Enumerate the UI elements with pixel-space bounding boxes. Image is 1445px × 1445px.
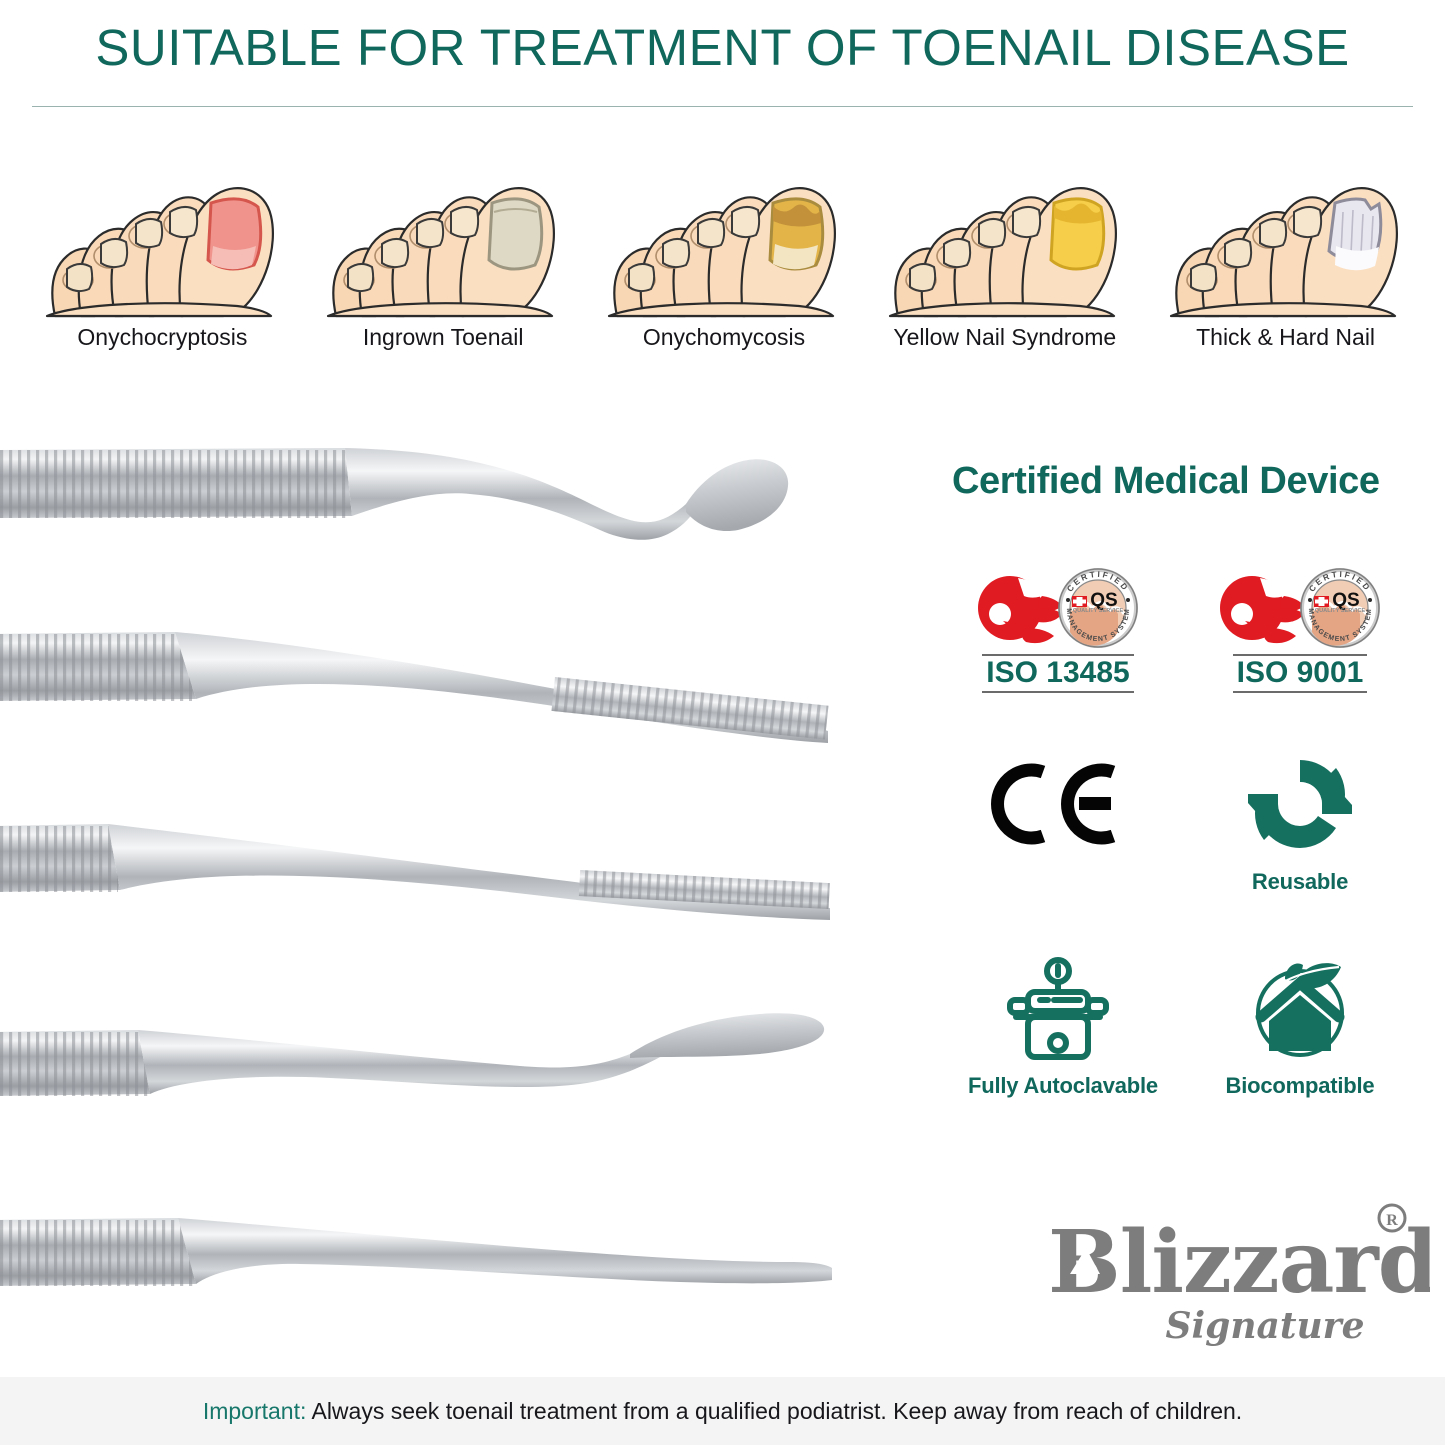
symbol-row-ce-reusable: Reusable xyxy=(968,745,1430,895)
foot-thick-hard-nail-icon xyxy=(1145,122,1426,318)
foot-onychomycosis-icon xyxy=(584,122,865,318)
symbol-biocompatible: Biocompatible xyxy=(1210,949,1390,1099)
title-divider xyxy=(32,106,1413,107)
svg-text:QUALITY SERVICE: QUALITY SERVICE xyxy=(1073,608,1124,614)
condition-item-onychocryptosis: Onychocryptosis xyxy=(22,122,303,372)
symbol-label: Fully Autoclavable xyxy=(968,1073,1148,1099)
footer-keyword: Important: xyxy=(203,1398,307,1424)
condition-item-thick-hard-nail: Thick & Hard Nail xyxy=(1145,122,1426,372)
instrument-nail-elevator-curved-spoon xyxy=(0,448,788,540)
conditions-strip: Onychocryptosis xyxy=(22,122,1426,372)
brand-name-text: Blizzard xyxy=(1048,1212,1430,1313)
house-leaf-icon xyxy=(1210,949,1390,1067)
instrument-nail-file-rasp-serrated xyxy=(0,632,828,743)
symbol-reusable: Reusable xyxy=(1210,745,1390,895)
condition-label: Yellow Nail Syndrome xyxy=(864,324,1145,351)
brand-trademark-text: R xyxy=(1386,1212,1398,1229)
iso-badge-9001: QS QUALITY SERVICE CERTIFIED MANAGEMENT … xyxy=(1210,565,1390,693)
instrument-gallery xyxy=(0,412,900,1332)
foot-onychocryptosis-icon xyxy=(22,122,303,318)
ce-mark-icon xyxy=(968,745,1148,863)
footer-bar: Important: Always seek toenail treatment… xyxy=(0,1377,1445,1445)
symbol-label: Reusable xyxy=(1210,869,1390,895)
instrument-nail-spatula-flat-blade xyxy=(0,1013,824,1096)
instrument-nail-probe-slim-blade xyxy=(0,1218,832,1286)
autoclave-sterilizer-icon xyxy=(968,949,1148,1067)
iso-badge-13485: QS QUALITY SERVICE CERTIFIED MANAGEMENT … xyxy=(968,565,1148,693)
condition-item-ingrown-toenail: Ingrown Toenail xyxy=(303,122,584,372)
certification-panel: Certified Medical Device xyxy=(930,460,1430,1099)
condition-label: Ingrown Toenail xyxy=(303,324,584,351)
instrument-nail-file-tapered-serrated xyxy=(0,824,830,920)
footer-message: Always seek toenail treatment from a qua… xyxy=(306,1398,1242,1424)
recycle-arrows-icon xyxy=(1210,745,1390,863)
page-title: SUITABLE FOR TREATMENT OF TOENAIL DISEAS… xyxy=(0,18,1445,77)
qs-certified-seal-icon: QS QUALITY SERVICE CERTIFIED MANAGEMENT … xyxy=(968,565,1148,651)
iso-badge-label: ISO 13485 xyxy=(982,654,1133,693)
iso-badge-row: QS QUALITY SERVICE CERTIFIED MANAGEMENT … xyxy=(968,565,1430,693)
symbol-ce-mark xyxy=(968,745,1148,895)
foot-ingrown-toenail-icon xyxy=(303,122,584,318)
brand-tagline-text: Signature xyxy=(1165,1305,1364,1347)
product-infographic: SUITABLE FOR TREATMENT OF TOENAIL DISEAS… xyxy=(0,0,1445,1445)
qs-certified-seal-icon: QS QUALITY SERVICE CERTIFIED MANAGEMENT … xyxy=(1210,565,1390,651)
condition-label: Onychomycosis xyxy=(584,324,865,351)
symbol-label: Biocompatible xyxy=(1210,1073,1390,1099)
condition-item-yellow-nail-syndrome: Yellow Nail Syndrome xyxy=(864,122,1145,372)
condition-item-onychomycosis: Onychomycosis xyxy=(584,122,865,372)
certification-heading: Certified Medical Device xyxy=(952,460,1430,503)
iso-badge-label: ISO 9001 xyxy=(1233,654,1368,693)
footer-notice: Important: Always seek toenail treatment… xyxy=(203,1398,1242,1425)
symbol-row-autoclave-biocompatible: Fully Autoclavable Biocompatible xyxy=(968,949,1430,1099)
symbol-fully-autoclavable: Fully Autoclavable xyxy=(968,949,1148,1099)
brand-logo: Blizzard R Signature xyxy=(1040,1196,1430,1366)
condition-label: Thick & Hard Nail xyxy=(1145,324,1426,351)
foot-yellow-nail-syndrome-icon xyxy=(864,122,1145,318)
condition-label: Onychocryptosis xyxy=(22,324,303,351)
svg-text:QUALITY SERVICE: QUALITY SERVICE xyxy=(1315,608,1366,614)
